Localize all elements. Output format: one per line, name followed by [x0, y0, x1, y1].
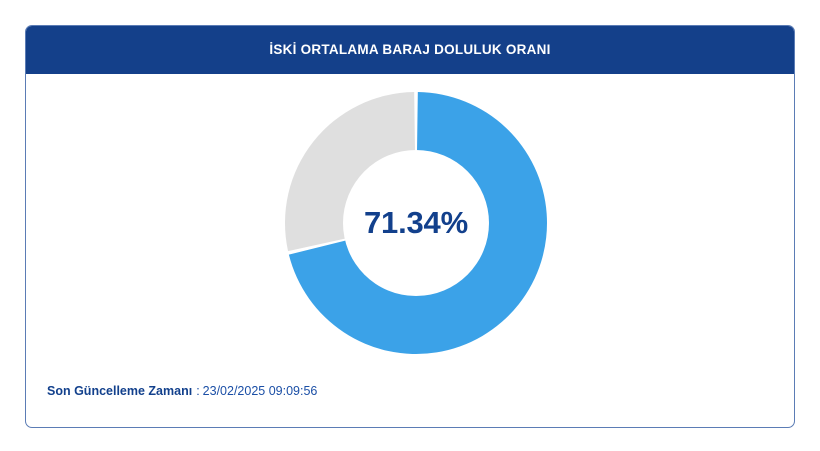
- card-header: İSKİ ORTALAMA BARAJ DOLULUK ORANI: [25, 25, 795, 74]
- last-update-label: Son Güncelleme Zamanı: [47, 384, 192, 398]
- dam-occupancy-card: İSKİ ORTALAMA BARAJ DOLULUK ORANI 71.34%…: [25, 25, 795, 428]
- chart-area: 71.34%: [26, 74, 794, 394]
- last-update-footer: Son Güncelleme Zamanı : 23/02/2025 09:09…: [26, 381, 794, 401]
- donut-chart-svg: [284, 91, 548, 355]
- donut-hole: [343, 150, 489, 296]
- last-update-separator: :: [196, 384, 199, 398]
- page-root: İSKİ ORTALAMA BARAJ DOLULUK ORANI 71.34%…: [0, 0, 820, 451]
- page-title: İSKİ ORTALAMA BARAJ DOLULUK ORANI: [269, 42, 550, 57]
- last-update-value: 23/02/2025 09:09:56: [203, 384, 318, 398]
- donut-chart: 71.34%: [284, 91, 548, 355]
